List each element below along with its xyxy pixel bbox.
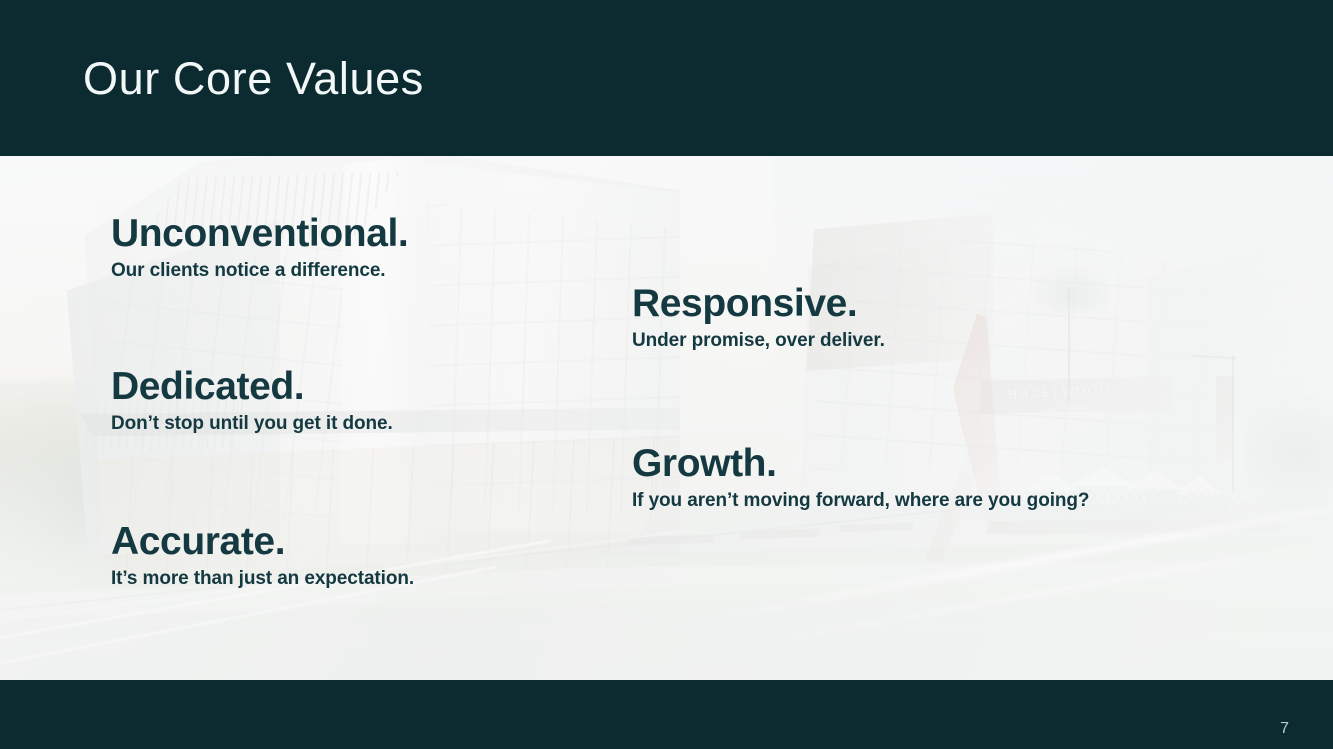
value-subtitle: Under promise, over deliver.: [632, 330, 885, 353]
core-values-list: Unconventional. Our clients notice a dif…: [0, 156, 1333, 680]
value-title: Accurate.: [111, 522, 414, 563]
value-title: Unconventional.: [111, 214, 408, 255]
value-item-unconventional: Unconventional. Our clients notice a dif…: [111, 214, 408, 282]
value-subtitle: It’s more than just an expectation.: [111, 568, 414, 591]
value-item-dedicated: Dedicated. Don’t stop until you get it d…: [111, 367, 393, 435]
value-subtitle: Don’t stop until you get it done.: [111, 413, 393, 436]
page-title: Our Core Values: [83, 56, 424, 101]
value-item-growth: Growth. If you aren’t moving forward, wh…: [632, 444, 1089, 512]
value-title: Growth.: [632, 444, 1089, 485]
slide-header-bar: Our Core Values: [0, 0, 1333, 156]
slide: HAZELWOOD food + drink: [0, 0, 1333, 749]
value-title: Responsive.: [632, 284, 885, 325]
page-number: 7: [1280, 721, 1289, 737]
value-subtitle: If you aren’t moving forward, where are …: [632, 490, 1089, 513]
value-item-accurate: Accurate. It’s more than just an expecta…: [111, 522, 414, 590]
value-subtitle: Our clients notice a difference.: [111, 260, 408, 283]
value-title: Dedicated.: [111, 367, 393, 408]
value-item-responsive: Responsive. Under promise, over deliver.: [632, 284, 885, 352]
slide-footer-bar: 7: [0, 680, 1333, 749]
